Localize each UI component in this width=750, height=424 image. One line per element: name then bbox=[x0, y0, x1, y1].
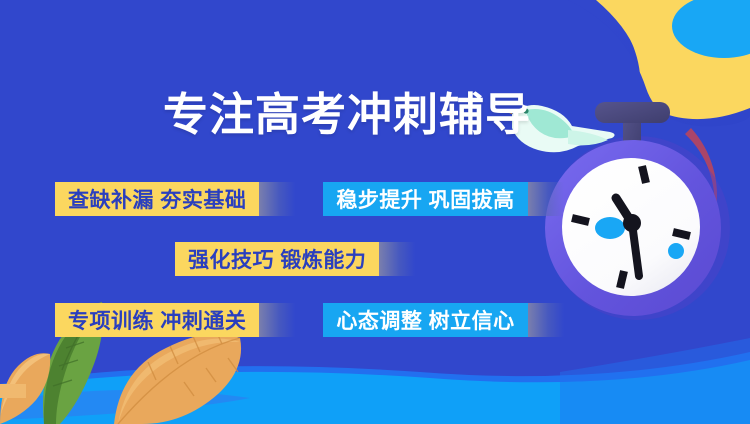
badge-xin-tai-tiao-zheng[interactable]: 心态调整 树立信心 bbox=[323, 303, 527, 337]
badge-row-3: 专项训练 冲刺通关 心态调整 树立信心 bbox=[55, 303, 564, 337]
badge-tail-4 bbox=[259, 303, 295, 337]
orange-leaf-small bbox=[0, 353, 50, 424]
badge-tail-2 bbox=[528, 182, 564, 216]
badge-cha-que-bu-lou[interactable]: 查缺补漏 夯实基础 bbox=[55, 182, 259, 216]
page-title: 专注高考冲刺辅导 bbox=[163, 88, 531, 142]
badge-tail-3 bbox=[379, 242, 415, 276]
badge-gap-2 bbox=[295, 303, 323, 337]
badge-tail-5 bbox=[528, 303, 564, 337]
badge-tail-1 bbox=[259, 182, 295, 216]
promo-banner: 专注高考冲刺辅导 查缺补漏 夯实基础 稳步提升 巩固拔高 强化技巧 锻炼能力 专… bbox=[0, 0, 750, 424]
badge-wen-bu-ti-sheng[interactable]: 稳步提升 巩固拔高 bbox=[323, 182, 527, 216]
badge-zhuan-xiang-xun-lian[interactable]: 专项训练 冲刺通关 bbox=[55, 303, 259, 337]
badge-qiang-hua-ji-qiao[interactable]: 强化技巧 锻炼能力 bbox=[175, 242, 379, 276]
badge-row-1: 查缺补漏 夯实基础 稳步提升 巩固拔高 bbox=[55, 182, 564, 216]
badge-row-2: 强化技巧 锻炼能力 bbox=[175, 242, 415, 276]
badge-gap-1 bbox=[295, 182, 323, 216]
orange-leaf-large bbox=[114, 326, 241, 424]
